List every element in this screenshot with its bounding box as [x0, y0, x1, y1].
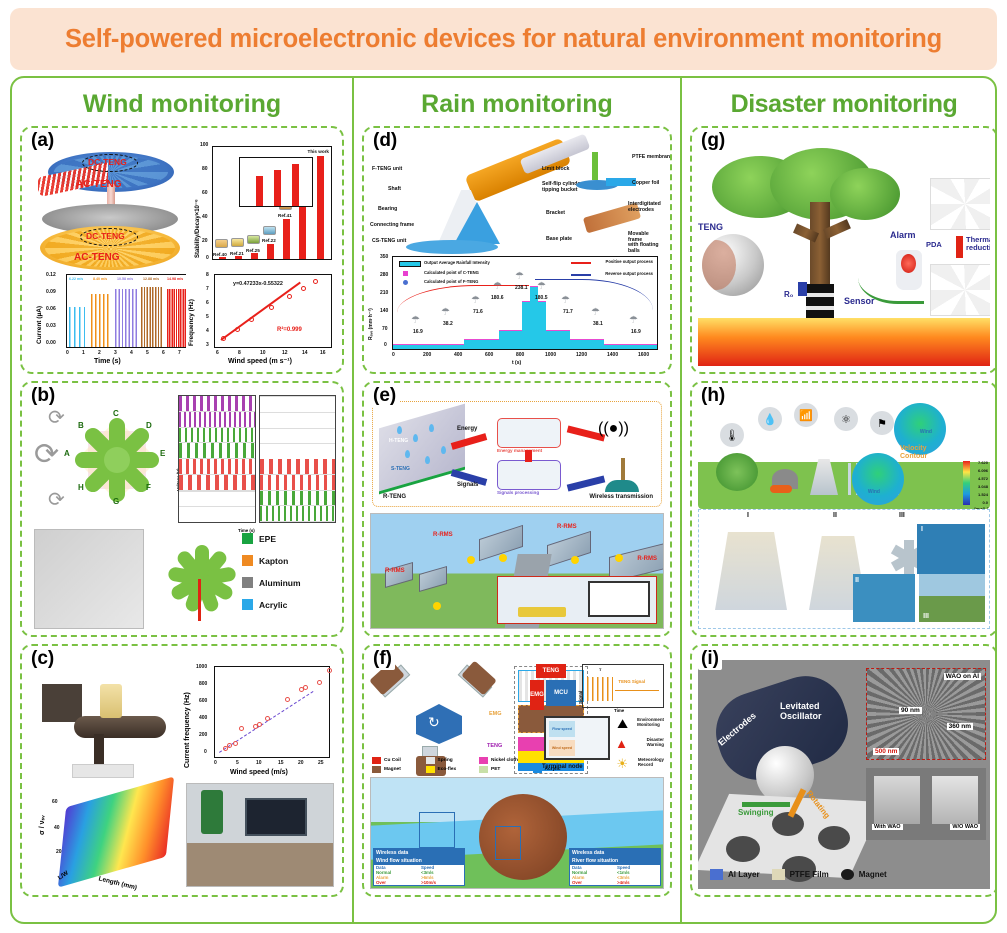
column-header-wind: Wind monitoring [18, 82, 346, 126]
bar-label-ref25: Ref.25 [246, 248, 260, 253]
velocity-contour-bottom [852, 453, 904, 505]
iv-xtick-2: 2 [98, 350, 101, 356]
f-swatch-acrylic [533, 766, 542, 773]
wireless-icon: 📶 [794, 403, 818, 427]
panel-f-tag: (f) [370, 648, 395, 670]
surface-ztick-40: 40 [54, 825, 60, 831]
panel-a[interactable]: (a) DC-TENG AC-TENG DC-TENG AC-TENG Stab… [20, 126, 344, 374]
signal-trace-b2 [179, 443, 255, 459]
signal-trace-d1 [179, 491, 255, 492]
bar-ref26 [299, 199, 306, 259]
bar-ytick-60: 60 [202, 190, 208, 196]
photo-label-I: I [921, 526, 923, 533]
bar-label-ref21: Ref.21 [230, 251, 244, 256]
f-swatch-spring [426, 757, 435, 764]
label-sensor: Sensor [844, 296, 875, 306]
scatter-plot-area [214, 666, 330, 758]
fit-ytick-8: 8 [206, 272, 209, 278]
rain-step-1 [393, 344, 464, 349]
label-90nm: 90 nm [899, 707, 922, 714]
scatter-xlabel: Wind speed (m/s) [230, 769, 288, 776]
view-label-II: II [833, 512, 837, 519]
raindrop-5 [425, 456, 430, 464]
river-flow-table: Wireless data River flow situation Data … [569, 848, 661, 886]
legend-label-acrylic: Acrylic [259, 600, 287, 610]
label-signals: Signals [457, 482, 478, 488]
current-frequency-chart: Current frequency (Hz) 1000 800 600 400 … [184, 664, 334, 776]
label-f-teng-unit: F-TENG unit [372, 166, 402, 172]
panel-b[interactable]: (b) ⟳ ⟳ ⟳ A B [20, 381, 344, 637]
energy-signal-flow-diagram: H-TENG S-TENG R-TENG Energy Signals Ener… [372, 401, 662, 507]
scatter-xtick-20: 20 [298, 760, 304, 766]
iv-ytick-000: 0.00 [46, 340, 56, 346]
rain-legend-3: Calculated point of F-TENG [424, 279, 478, 284]
iv-plot-area: 6.22 m/s 8.40 m/s 10.58 m/s 12.88 m/s 14… [66, 274, 187, 348]
river-table-title: River flow situation [570, 857, 660, 865]
flower-device-illustration [152, 531, 252, 627]
eight-direction-sensor: A B C D E F G H [42, 399, 192, 521]
monitor-screen [245, 798, 307, 836]
bar-ytick-100: 100 [200, 142, 208, 148]
label-pda: PDA [926, 240, 942, 249]
sample-photo-pair: With WAO W/O WAO [866, 768, 986, 840]
scatter-xtick-5: 5 [236, 760, 239, 766]
rain-legend-5: Reverse output process [605, 271, 653, 276]
legend-item-kapton: Kapton [242, 555, 334, 566]
panel-d-tag: (d) [370, 130, 400, 152]
iv-ytick-003: 0.03 [46, 323, 56, 329]
direction-label-A: A [64, 449, 70, 458]
wifi-node-4 [571, 556, 579, 564]
label-ptfe-membrane: PTFE membrane [632, 154, 672, 160]
iv-ytick-006: 0.06 [46, 306, 56, 312]
rain-ytick-280: 280 [380, 272, 388, 278]
rain-ylabel: Rₐᵥₑ (mm·h⁻¹) [368, 308, 374, 340]
label-ac-teng-bottom: AC-TENG [74, 252, 120, 263]
wireless-tower-icon: ((●)) [598, 420, 629, 438]
energy-management-chip [497, 418, 561, 448]
label-wind-top: Wind [920, 429, 932, 435]
i-label-ptfe-film: PTFE Film [790, 870, 829, 879]
direction-label-H: H [78, 483, 84, 492]
reduction-arrow [956, 236, 963, 258]
colorbar-value-6096: 6.096 [978, 468, 988, 473]
signal-trace-a1 [179, 396, 255, 412]
label-teng-g: TENG [698, 222, 723, 232]
rain-value-2: 38.2 [443, 321, 453, 327]
fit-ytick-7: 7 [206, 286, 209, 292]
iv-ytick-009: 0.09 [46, 289, 56, 295]
frequency-windspeed-chart: Frequency (Hz) 8 7 6 5 4 3 [186, 272, 334, 364]
wifi-node-1 [433, 602, 441, 610]
direction-label-D: D [146, 421, 152, 430]
inset-bar-1 [256, 176, 263, 206]
legend-item-aluminum: Aluminum [242, 577, 334, 588]
velocity-colorbar [963, 461, 970, 505]
legend-swatch-kapton [242, 555, 253, 566]
bar-this-work [317, 156, 324, 259]
rain-xtick-600: 600 [485, 352, 493, 358]
reverse-arrow-swatch [571, 274, 591, 276]
f-legend-item-pet: PET [479, 766, 529, 773]
humidity-icon: 💧 [758, 407, 782, 431]
mcu-block: MCU [546, 680, 576, 706]
label-limit-block: Limit block [542, 166, 569, 172]
signal-trace-e2 [260, 412, 336, 413]
legend-item-epe: EPE [242, 533, 334, 544]
cloud-icon-8: ☂ [591, 307, 600, 318]
rain-ytick-70: 70 [382, 326, 388, 332]
fit-xtick-12: 12 [282, 350, 288, 356]
i-legend-item-ptfe-film: PTFE Film [772, 869, 829, 880]
iv-xtick-5: 5 [146, 350, 149, 356]
signal-axis-ylabel: Signal [578, 691, 583, 704]
label-dc-teng-bottom: DC-TENG [86, 231, 125, 241]
bar-label-ref22: Ref.22 [262, 238, 276, 243]
solar-panel-4 [547, 531, 591, 567]
photo-label-II: II [855, 577, 859, 584]
scatter-ytick-400: 400 [199, 715, 207, 721]
panel-h-tag: (h) [698, 385, 728, 407]
surface-plot: σ / νₛᵥ 60 40 20 L/W Length (mm) [32, 781, 184, 889]
reduced-graphene-sheet [930, 264, 990, 316]
waveform-period-label: T [599, 667, 601, 672]
surface-mesh [58, 776, 174, 887]
ptfe-post [592, 152, 598, 180]
wireless-signal-arrow [567, 476, 606, 492]
device-photograph [34, 529, 144, 629]
rain-value-7: 71.7 [563, 309, 573, 315]
raindrop-6 [441, 446, 446, 454]
scatter-point-10 [303, 685, 308, 690]
rain-value-8: 38.1 [593, 321, 603, 327]
scatter-xtick-0: 0 [214, 760, 217, 766]
scatter-point-6 [257, 722, 262, 727]
bar-chart-ylabel: Stability/Decay×10⁻⁶ [194, 199, 201, 258]
bar-ref21 [235, 256, 242, 259]
iv-xtick-3: 3 [114, 350, 117, 356]
label-h-teng: H-TENG [389, 438, 408, 444]
rain-value-6: 180.5 [535, 295, 548, 301]
signal-trace-b1 [179, 428, 255, 444]
rain-xtick-800: 800 [516, 352, 524, 358]
warning-triangle-icon: ▲ [615, 736, 628, 751]
chip-ref40 [215, 239, 228, 248]
i-label-magnet: Magnet [859, 870, 887, 879]
label-interdigitated-electrodes: Interdigitated electrodes [628, 202, 661, 213]
positive-arrow-swatch [571, 262, 591, 264]
signal-trace-e1 [260, 396, 336, 397]
forest-fire-monitoring-scene: TENG R₀ Sensor Alarm PDA Thermal reducti… [698, 142, 990, 366]
sample-with-wao [874, 776, 920, 824]
panel-c[interactable]: (c) Current frequency (Hz) 1000 800 600 … [20, 644, 344, 897]
colorbar-value-4572: 4.572 [978, 476, 988, 481]
handheld-meter [201, 790, 223, 834]
tower-base [605, 480, 639, 492]
base-plate-disc [406, 240, 498, 254]
rain-value-3: 71.6 [473, 309, 483, 315]
panel-d[interactable]: (d) F-TENG unit Shaft Bearing Connecting… [362, 126, 672, 374]
i-swatch-al-layer [710, 869, 723, 880]
scatter-ylabel: Current frequency (Hz) [184, 692, 191, 768]
label-cs-teng-unit: CS-TENG unit [372, 238, 406, 244]
emg-block: EMG [530, 680, 544, 710]
rain-step-9 [604, 344, 657, 349]
rain-step-3 [499, 330, 523, 349]
rain-plot-area: Output Average Rainfall Intensity Calcul… [392, 256, 658, 350]
rain-field-scene: R-RMS R-RMS R-RMS R-RMS [370, 513, 664, 629]
scatter-point-7 [265, 716, 270, 721]
f-legend-item-nickel-cloth: Nickel cloth [479, 757, 529, 764]
label-500nm-scalebar: 500 nm [873, 748, 899, 755]
f-legend-item-acrylic: Acrylic [533, 766, 583, 773]
river-over-speed: >4m/s [615, 880, 660, 885]
campfire [770, 485, 792, 493]
panel-b-tag: (b) [28, 385, 58, 407]
river-over-label: Over [570, 880, 615, 885]
label-wireless-transmission: Wireless transmission [589, 494, 653, 500]
current-time-chart: Current (µA) 0.12 0.09 0.06 0.03 0.00 6.… [34, 272, 189, 364]
bar-ytick-0: 0 [206, 255, 209, 261]
river-wireless-header: Wireless data [570, 849, 660, 857]
photo-view-I [917, 524, 985, 574]
f-legend-item-magnet: Magnet [372, 766, 422, 773]
f-legend-spacer [533, 757, 583, 764]
surface-ztick-60: 60 [52, 799, 58, 805]
f-label-spring: Spring [438, 758, 453, 763]
f-legend-item-ecoflex: Eco-flex [426, 766, 476, 773]
rain-value-1: 16.9 [413, 329, 423, 335]
teng-sphere [702, 234, 764, 296]
figure-title-banner: Self-powered microelectronic devices for… [10, 8, 997, 70]
rain-legend-2: Calculated point of C-TENG [424, 270, 479, 275]
direction-label-G: G [113, 497, 119, 506]
rain-gauge-schematic: F-TENG unit Shaft Bearing Connecting fra… [370, 144, 664, 256]
cloud-icon-4: ☂ [493, 281, 502, 292]
panel-h[interactable]: (h) 🌡 💧 📶 ⚛ ⚑ Velocity Contour Wind [690, 381, 997, 637]
wind-row-over: Over >10m/s [374, 880, 464, 885]
rain-xtick-400: 400 [454, 352, 462, 358]
legend-label-kapton: Kapton [259, 556, 288, 566]
rainfall-intensity-chart: Rₐᵥₑ (mm·h⁻¹) 350 280 210 140 70 0 [372, 254, 662, 366]
teng-signal-label: TENG Signal [618, 679, 645, 684]
raindrop-1 [397, 426, 402, 434]
column-wind: Wind monitoring (a) DC-TENG AC-TENG DC-T… [12, 78, 352, 922]
f-label-pet: PET [491, 767, 500, 772]
f-label-cu-coil: Cu Coil [384, 758, 401, 763]
direction-label-E: E [160, 449, 165, 458]
cloud-icon-7: ☂ [561, 295, 570, 306]
label-environment-monitoring: Environment Monitoring [637, 718, 664, 728]
panels-frame: Wind monitoring (a) DC-TENG AC-TENG DC-T… [10, 76, 997, 924]
page-title: Self-powered microelectronic devices for… [65, 25, 942, 54]
legend-label-epe: EPE [259, 534, 276, 544]
label-shaft: Shaft [388, 186, 401, 192]
rain-xtick-1000: 1000 [545, 352, 556, 358]
f-swatch-nickel-cloth [479, 757, 488, 764]
chip-ref22 [263, 226, 276, 235]
f-label-ecoflex: Eco-flex [438, 767, 457, 772]
rain-legend-1: Output Average Rainfall Intensity [424, 260, 490, 265]
colorbar-value-1524: 1.524 [978, 492, 988, 497]
rain-legend-4: Positive output process [606, 259, 653, 264]
panel-a-tag: (a) [28, 130, 57, 152]
generator-callout [495, 826, 521, 860]
wind-turbine-callout [419, 812, 455, 848]
iv-series-1 [69, 307, 85, 347]
gas-molecule-icon: ⚛ [834, 407, 858, 431]
scatter-xtick-15: 15 [278, 760, 284, 766]
label-movable-frame: Movable frame with floating balls [628, 232, 664, 255]
legend-swatch-epe [242, 533, 253, 544]
scatter-ytick-0: 0 [204, 749, 207, 755]
fit-ytick-5: 5 [206, 314, 209, 320]
f-swatch-magnet [372, 766, 381, 773]
fit-point-2 [235, 327, 240, 332]
column-header-rain: Rain monitoring [360, 82, 674, 126]
iv-xtick-7: 7 [178, 350, 181, 356]
iv-speed-label-3: 10.58 m/s [117, 277, 133, 281]
i-swatch-ptfe-film [772, 869, 785, 880]
label-swinging: Swinging [738, 808, 774, 817]
rain-xlabel: t (s) [512, 360, 521, 366]
rain-xtick-200: 200 [423, 352, 431, 358]
bar-ref25 [251, 253, 258, 259]
cloud-icon-6: ☂ [537, 281, 546, 292]
device-view-I [715, 532, 787, 610]
iv-series-4 [141, 287, 163, 347]
mountain-icon: ⛰ [617, 716, 628, 732]
bar-chart-inset [239, 157, 313, 207]
f-swatch-cu-coil [372, 757, 381, 764]
bar-ref22 [267, 244, 274, 259]
panel-i[interactable]: (i) Electrodes Levitated Oscillator Swin… [690, 644, 997, 897]
magnet-disc-1 [726, 836, 760, 862]
tree-crown-right [830, 168, 900, 220]
waveform-baseline [615, 690, 659, 691]
legend-swatch-acrylic [242, 599, 253, 610]
column-rain: Rain monitoring (d) F-TENG unit Shaft Be… [352, 78, 680, 922]
waveform-burst [587, 677, 613, 701]
colorbar-value-3048: 3.048 [978, 484, 988, 489]
environment-sensing-scene: 🌡 💧 📶 ⚛ ⚑ Velocity Contour Wind Wind [698, 397, 990, 509]
signal-column-right [259, 395, 337, 523]
scatter-point-4 [239, 726, 244, 731]
fit-point-3 [249, 317, 254, 322]
sem-image-wao: WAO on Al 90 nm 360 nm 500 nm [866, 668, 986, 760]
rain-ytick-350: 350 [380, 254, 388, 260]
levitated-oscillator-scene: Electrodes Levitated Oscillator Swinging… [698, 660, 990, 889]
bar-label-this-work: This work [308, 149, 329, 154]
signal-waveform-plot: T TENG Signal [582, 664, 664, 708]
label-emg: EMG [489, 711, 502, 717]
iv-xlabel: Time (s) [94, 358, 121, 365]
panel-g[interactable]: (g) TENG R₀ Sensor [690, 126, 997, 374]
scatter-point-2 [227, 743, 232, 748]
direction-label-B: B [78, 421, 84, 430]
iv-series-2 [91, 294, 111, 347]
signal-trace-f2 [260, 443, 336, 444]
column-disaster: Disaster monitoring (g) TENG [680, 78, 997, 922]
wifi-node-3 [499, 554, 507, 562]
fit-r-squared: R²=0.999 [277, 327, 302, 333]
signal-trace-g2 [260, 475, 336, 491]
bar-ytick-20: 20 [202, 238, 208, 244]
anemometer-post [94, 734, 104, 768]
scatter-xtick-25: 25 [318, 760, 324, 766]
flower-stem [198, 579, 201, 621]
fit-plot-area: y=0.47233x-0.55322 R²=0.999 [214, 274, 332, 348]
label-teng: TENG [487, 743, 502, 749]
f-label-magnet: Magnet [384, 767, 401, 772]
label-energy: Energy [457, 426, 477, 432]
f-materials-legend: Cu Coil Spring Nickel cloth Magnet [372, 757, 582, 773]
fit-xtick-16: 16 [320, 350, 326, 356]
rain-value-4: 180.6 [491, 295, 504, 301]
solar-panel-1 [385, 562, 413, 588]
colorbar-value-0: 0.0 [982, 500, 988, 505]
raindrop-4 [405, 450, 410, 458]
panel-e[interactable]: (e) H-TENG S-TENG R-TENG Energy Signals [362, 381, 672, 637]
fit-point-7 [313, 279, 318, 284]
surface-xlabel: Length (mm) [98, 875, 138, 891]
i-label-al-layer: Al Layer [728, 870, 760, 879]
chip-ref21 [231, 238, 244, 247]
legend-swatch-aluminum [242, 577, 253, 588]
f-swatch-pet [479, 766, 488, 773]
laptop-screen [588, 581, 650, 617]
downward-arrow [525, 450, 532, 462]
wifi-node-5 [615, 554, 623, 562]
thermometer-icon: 🌡 [720, 423, 744, 447]
iv-xtick-0: 0 [66, 350, 69, 356]
label-bearing: Bearing [378, 206, 397, 212]
direction-label-F: F [146, 483, 151, 492]
signal-trace-h2 [260, 506, 336, 522]
rrms-label-3: R-RMS [557, 524, 577, 530]
bar-ytick-40: 40 [202, 214, 208, 220]
scatter-point-11 [317, 680, 322, 685]
panel-i-tag: (i) [698, 648, 722, 670]
magnet-disc-3 [818, 826, 850, 850]
f-label-nickel-cloth: Nickel cloth [491, 758, 518, 763]
rain-ytick-140: 140 [380, 308, 388, 314]
f-legend-item-spring: Spring [426, 757, 476, 764]
rotation-arrow-icon: ↻ [428, 714, 440, 731]
rain-xtick-1600: 1600 [638, 352, 649, 358]
device-views-row: I II III I II III [698, 509, 990, 629]
rain-value-5: 238.1 [515, 285, 528, 291]
label-copper-foil: Copper foil [632, 180, 659, 186]
rain-ytick-210: 210 [380, 290, 388, 296]
photo-view-II [853, 574, 915, 622]
scatter-point-8 [285, 697, 290, 702]
iv-ylabel: Current (µA) [36, 306, 43, 344]
label-ac-teng-top: AC-TENG [76, 179, 122, 190]
teng-device-schematic: DC-TENG AC-TENG DC-TENG AC-TENG [36, 144, 184, 272]
fit-ytick-6: 6 [206, 300, 209, 306]
wind-over-label: Over [374, 880, 419, 885]
label-360nm: 360 nm [947, 723, 973, 730]
anemometer-icon: ⚑ [870, 411, 894, 435]
panel-f[interactable]: (f) ↻ EMG [362, 644, 672, 897]
i-legend-item-al-layer: Al Layer [710, 869, 760, 880]
sample-without-wao [932, 776, 978, 824]
rain-xtick-0: 0 [392, 352, 395, 358]
teng-sphere-shade [702, 240, 736, 290]
bar-label-ref40: Ref.40 [213, 252, 227, 257]
cloud-icon-5: ☂ [515, 271, 524, 282]
